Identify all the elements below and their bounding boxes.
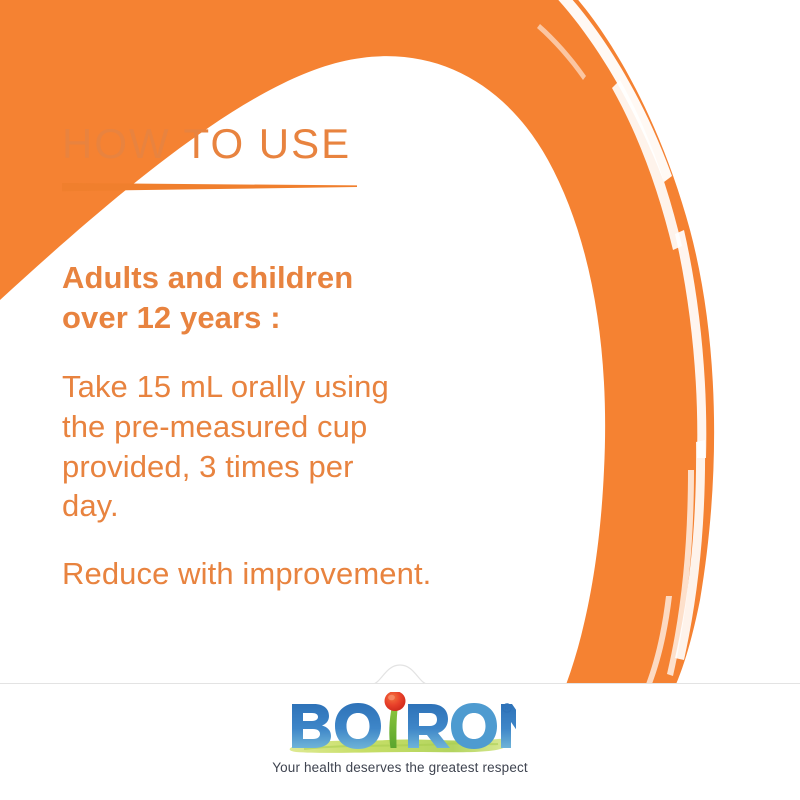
how-to-use-panel: HOW TO USE Adults and children over 12 y…	[0, 0, 800, 800]
title-block: HOW TO USE	[62, 122, 492, 192]
page-title: HOW TO USE	[62, 122, 492, 166]
title-underline-rule	[62, 182, 357, 192]
footer-divider-notch	[355, 662, 445, 686]
audience-line-1: Adults and children	[62, 258, 492, 298]
panel-content: HOW TO USE Adults and children over 12 y…	[0, 0, 800, 684]
dosage-line-3: provided, 3 times per	[62, 447, 492, 487]
svg-text:R: R	[505, 707, 509, 713]
boiron-logo: R Your health deserves the greatest resp…	[250, 692, 550, 775]
dosage-line-1: Take 15 mL orally using	[62, 367, 492, 407]
instructions-body: Adults and children over 12 years : Take…	[62, 258, 492, 594]
logo-tagline: Your health deserves the greatest respec…	[250, 760, 550, 775]
dosage-line-4: day.	[62, 486, 492, 526]
tapering-line-1: Reduce with improvement.	[62, 554, 492, 594]
audience-line-2: over 12 years :	[62, 298, 492, 338]
spacer-after-dosage	[62, 526, 492, 554]
footer: R Your health deserves the greatest resp…	[0, 684, 800, 800]
dosage-line-2: the pre-measured cup	[62, 407, 492, 447]
tapering-paragraph: Reduce with improvement.	[62, 554, 492, 594]
dosage-paragraph: Take 15 mL orally using the pre-measured…	[62, 367, 492, 526]
boiron-logo-mark: R	[284, 692, 516, 758]
logo-flower-bloom	[385, 692, 406, 711]
audience-paragraph: Adults and children over 12 years :	[62, 258, 492, 337]
spacer-after-audience	[62, 337, 492, 367]
